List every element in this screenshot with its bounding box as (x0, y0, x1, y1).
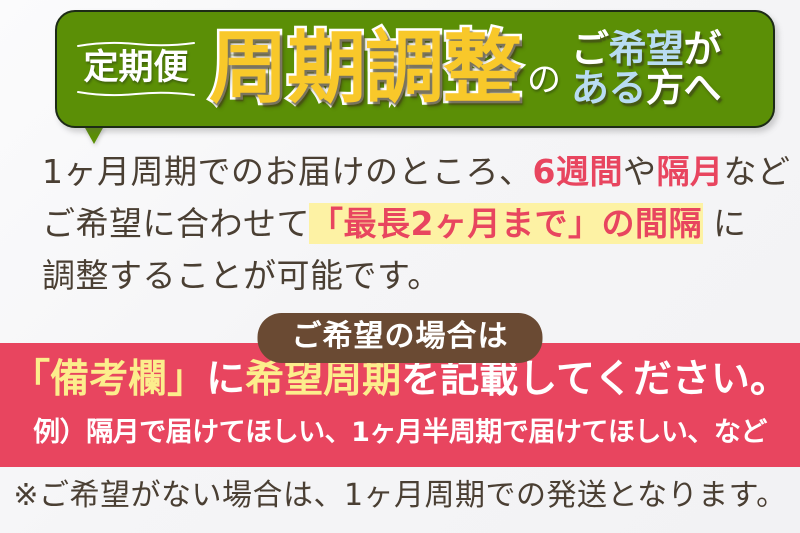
speech-bubble-tail (84, 126, 104, 144)
header-subtitle: ご希望が ある方へ (571, 30, 721, 108)
instruction-example: 例）隔月で届けてほしい、1ヶ月半周期で届けてほしい、など (0, 417, 800, 449)
text-seg: に (702, 204, 747, 243)
description-line-1: 1ヶ月周期でのお届けのところ、6週間や隔月など (42, 146, 772, 198)
description-line-3: 調整することが可能です。 (42, 250, 772, 302)
text-seg: や (623, 152, 657, 191)
header-subtitle-line1: ご希望が (571, 30, 721, 69)
subtitle-seg: ご (571, 27, 609, 71)
subscription-badge: 定期便 (71, 40, 201, 98)
text-seg: 調整することが可能です。 (42, 256, 441, 295)
header-content: 定期便 周期調整 の ご希望が ある方へ (57, 12, 773, 126)
subtitle-seg: が (684, 27, 722, 71)
instruction-seg: に (206, 357, 245, 402)
promo-banner-page: 定期便 周期調整 の ご希望が ある方へ 1ヶ月周期でのお届けのところ、6週間 (0, 0, 800, 533)
header-banner: 定期便 周期調整 の ご希望が ある方へ (55, 10, 775, 128)
description-text: 1ヶ月周期でのお届けのところ、6週間や隔月など ご希望に合わせて「最長2ヶ月まで… (42, 146, 772, 302)
subtitle-seg: 希望 (609, 27, 684, 71)
instruction-seg: 「備考欄」 (11, 357, 206, 402)
description-line-2: ご希望に合わせて「最長2ヶ月まで」の間隔 に (42, 198, 772, 250)
subscription-badge-label: 定期便 (83, 49, 188, 89)
instruction-seg: 希望周期 (245, 357, 401, 402)
text-seg-highlight: 6週間 (533, 152, 623, 191)
subtitle-seg: ある (571, 66, 646, 110)
text-seg-marker-highlight: 「最長2ヶ月まで」の間隔 (310, 204, 702, 243)
page-title-particle: の (527, 63, 561, 97)
header-subtitle-line2: ある方へ (571, 69, 721, 108)
instruction-headline: 「備考欄」に希望周期を記載してください。 (0, 357, 800, 404)
footnote-text: ※ご希望がない場合は、1ヶ月周期での発送となります。 (0, 478, 800, 514)
text-seg: ご希望に合わせて (42, 204, 310, 243)
page-title: 周期調整 (209, 29, 521, 108)
text-seg-highlight: 隔月 (656, 152, 723, 191)
subtitle-seg: 方へ (646, 66, 721, 110)
instruction-seg: を記載してください。 (401, 357, 789, 402)
wavy-line-bottom-icon (77, 89, 195, 98)
text-seg: など (723, 152, 790, 191)
text-seg: 1ヶ月周期でのお届けのところ、 (42, 152, 533, 191)
request-case-pill: ご希望の場合は (258, 313, 543, 363)
